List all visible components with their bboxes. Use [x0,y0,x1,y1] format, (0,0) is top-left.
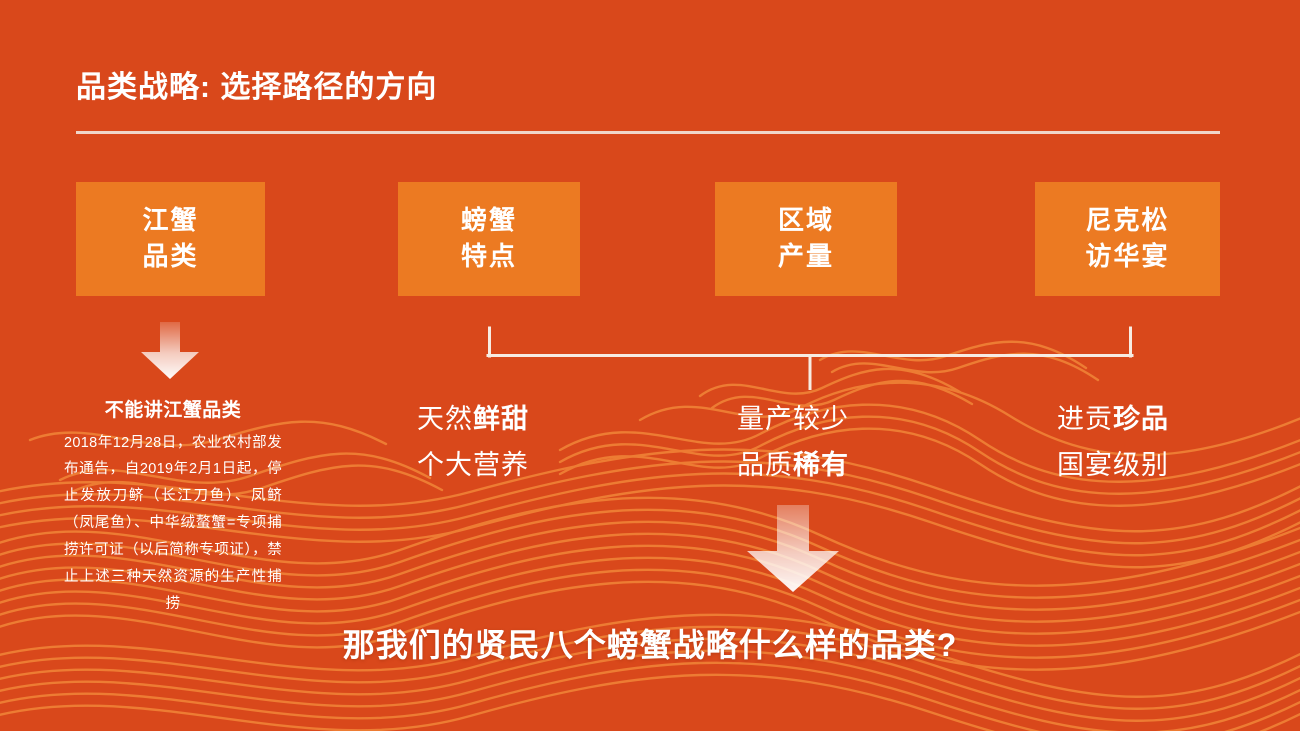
feature-line1-plain: 量产较少 [737,404,849,434]
category-box-line2: 品类 [142,239,198,275]
bracket-connector [470,300,1150,390]
feature-line2-plain: 品质 [737,450,793,480]
left-column-body: 2018年12月28日，农业农村部发布通告，自2019年2月1日起，停止发放刀鲚… [64,430,282,618]
feature-column-quyu-chanliang: 量产较少 品质稀有 [737,396,849,489]
title-divider [76,131,1220,134]
category-box-pangxie[interactable]: 螃蟹 特点 [398,182,580,296]
left-column-heading: 不能讲江蟹品类 [64,398,282,424]
feature-line-2: 品质稀有 [737,442,849,488]
category-box-line1: 尼克松 [1085,203,1169,239]
feature-line-2: 国宴级别 [1057,442,1169,488]
left-detail-column: 不能讲江蟹品类 2018年12月28日，农业农村部发布通告，自2019年2月1日… [64,398,282,617]
feature-line1-bold: 珍品 [1113,404,1169,434]
category-box-nikesong[interactable]: 尼克松 访华宴 [1035,182,1220,296]
category-box-line2: 产量 [778,239,834,275]
feature-line2-plain: 国宴级别 [1057,450,1169,480]
page-title: 品类战略: 选择路径的方向 [76,62,437,106]
category-box-line1: 区域 [778,203,834,239]
bottom-headline: 那我们的贤民八个螃蟹战略什么样的品类? [0,620,1300,666]
feature-line-1: 进贡珍品 [1057,396,1169,442]
arrow-down-icon-large [745,505,841,593]
feature-line-2: 个大营养 [417,442,529,488]
feature-line1-bold: 鲜甜 [473,404,529,434]
feature-line2-bold: 稀有 [793,450,849,480]
feature-line2-plain: 个大营养 [417,450,529,480]
arrow-down-icon [139,322,201,380]
category-box-line1: 螃蟹 [461,203,517,239]
category-box-quyu[interactable]: 区域 产量 [715,182,897,296]
feature-column-pangxie-tedian: 天然鲜甜 个大营养 [417,396,529,489]
feature-line-1: 天然鲜甜 [417,396,529,442]
slide-canvas: 品类战略: 选择路径的方向 江蟹 品类 螃蟹 特点 区域 产量 尼克松 访华宴 [0,0,1300,731]
category-box-line2: 特点 [461,239,517,275]
category-box-line1: 江蟹 [142,203,198,239]
category-box-line2: 访华宴 [1085,239,1169,275]
feature-column-nikesong-fanghuayan: 进贡珍品 国宴级别 [1057,396,1169,489]
category-box-jiangxie[interactable]: 江蟹 品类 [76,182,265,296]
feature-line-1: 量产较少 [737,396,849,442]
feature-line1-plain: 进贡 [1057,404,1113,434]
feature-line1-plain: 天然 [417,404,473,434]
